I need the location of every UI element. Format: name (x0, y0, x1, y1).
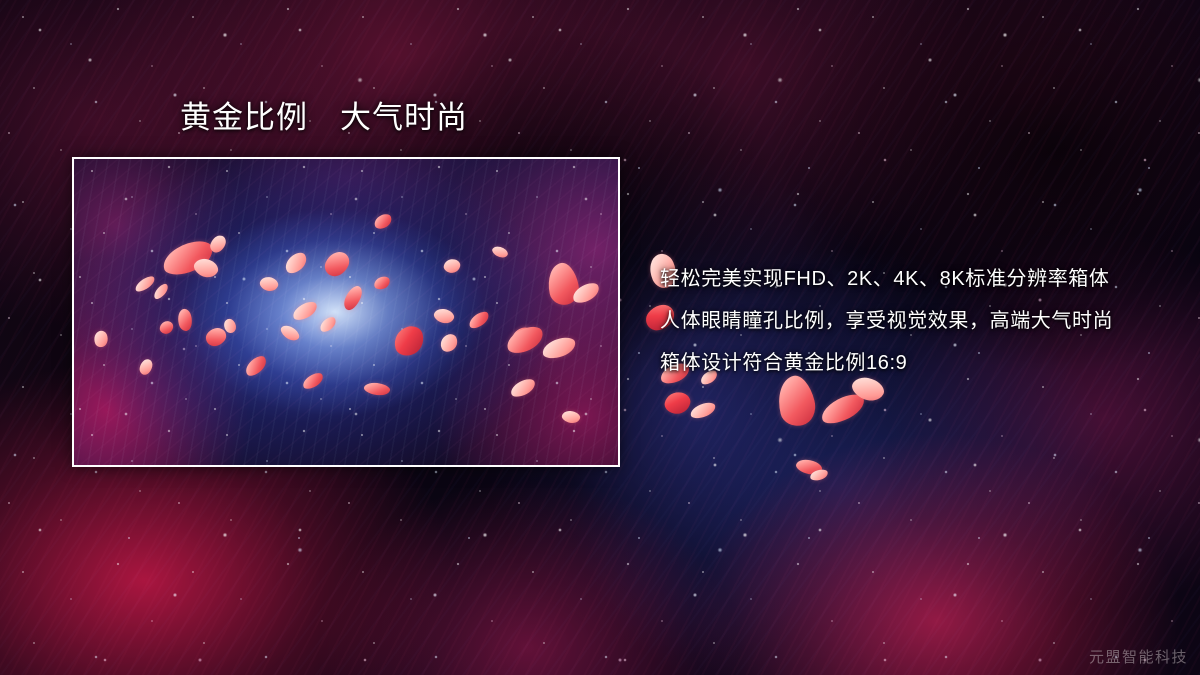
photo-petal (300, 371, 325, 391)
body-line-1: 轻松完美实现FHD、2K、4K、8K标准分辨率箱体 (660, 258, 1180, 300)
photo-petal (503, 323, 546, 357)
photo-petal (151, 282, 170, 301)
photo-petal (92, 329, 111, 349)
photo-petal (443, 257, 462, 274)
photo-starfield-bright (74, 159, 618, 465)
photo-petal (491, 244, 510, 261)
body-line-3: 箱体设计符合黄金比例16:9 (660, 342, 1180, 384)
photo-petal (342, 283, 365, 312)
photo-petal (159, 320, 174, 335)
photo-petal (258, 274, 280, 294)
photo-petal (363, 380, 391, 397)
photo-petal (391, 323, 428, 358)
background-petal (689, 401, 718, 421)
photo-petal (133, 274, 157, 294)
photo-petal (278, 322, 301, 344)
photo-petal (290, 299, 319, 322)
photo-petal (317, 315, 338, 334)
background-petal (663, 390, 692, 417)
photo-nebula-wisps (74, 159, 618, 465)
photo-petal (540, 335, 577, 361)
photo-petal (561, 409, 582, 426)
photo-petal (322, 248, 353, 281)
photo-petal (372, 212, 393, 230)
body-text-block: 轻松完美实现FHD、2K、4K、8K标准分辨率箱体 人体眼睛瞳孔比例，享受视觉效… (660, 258, 1180, 384)
body-line-2: 人体眼睛瞳孔比例，享受视觉效果，高端大气时尚 (660, 300, 1180, 342)
photo-frame (72, 157, 620, 467)
photo-petal (437, 332, 460, 355)
photo-starfield-small (74, 159, 618, 465)
photo-petal (466, 309, 491, 330)
photo-petal (432, 306, 456, 327)
photo-galaxy-backdrop (74, 159, 618, 465)
slide-title: 黄金比例 大气时尚 (180, 100, 468, 136)
presentation-slide: 黄金比例 大气时尚 (0, 0, 1200, 675)
watermark: 元盟智能科技 (1089, 646, 1188, 667)
photo-petal (508, 377, 537, 400)
photo-petal (138, 358, 153, 376)
photo-petal (242, 353, 270, 378)
photo-petal (373, 275, 391, 290)
photo-petal (282, 250, 311, 277)
photo-petal (176, 308, 195, 333)
